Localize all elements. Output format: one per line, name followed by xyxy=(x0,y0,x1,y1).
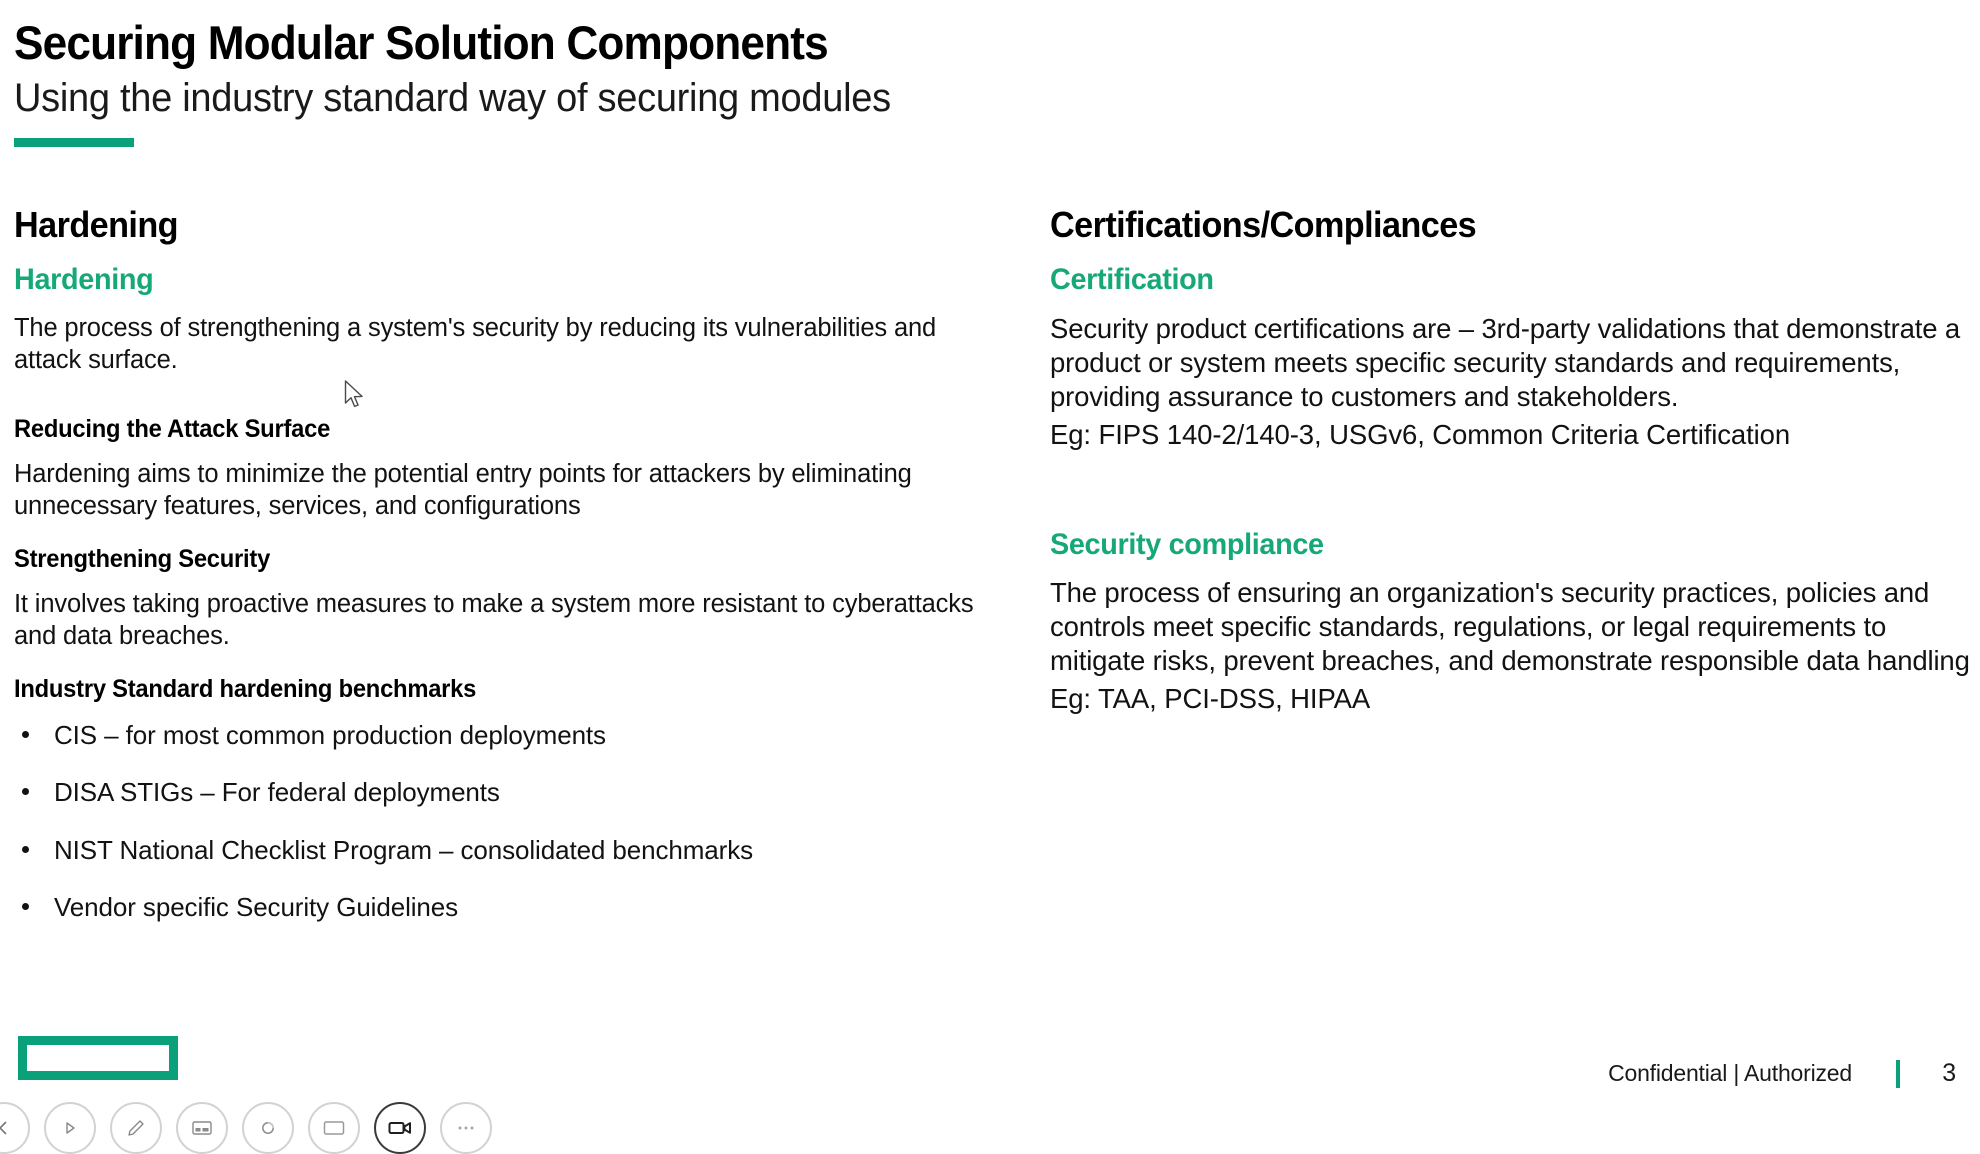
right-column-heading: Certifications/Compliances xyxy=(1050,205,1934,245)
list-item: NIST National Checklist Program – consol… xyxy=(14,835,1004,866)
hpe-logo xyxy=(18,1036,178,1080)
security-compliance-example: Eg: TAA, PCI-DSS, HIPAA xyxy=(1050,682,1980,716)
next-slide-button[interactable] xyxy=(44,1102,96,1154)
certification-text: Security product certifications are – 3r… xyxy=(1050,312,1980,414)
certification-green-heading: Certification xyxy=(1050,263,1943,297)
list-item-label: DISA STIGs – For federal deployments xyxy=(54,777,500,807)
presentation-slide: Securing Modular Solution Components Usi… xyxy=(0,0,1980,1116)
reducing-attack-surface-heading: Reducing the Attack Surface xyxy=(14,414,955,444)
play-arrow-icon xyxy=(62,1120,78,1136)
security-compliance-text: The process of ensuring an organization'… xyxy=(1050,576,1980,678)
page-title: Securing Modular Solution Components xyxy=(14,18,1800,69)
benchmarks-heading: Industry Standard hardening benchmarks xyxy=(14,674,955,704)
camera-button[interactable] xyxy=(374,1102,426,1154)
list-item-label: CIS – for most common production deploym… xyxy=(54,720,606,750)
camera-icon xyxy=(388,1120,412,1136)
slide-header: Securing Modular Solution Components Usi… xyxy=(14,18,1914,147)
bullet-dot-icon xyxy=(22,903,29,910)
security-compliance-green-heading: Security compliance xyxy=(1050,528,1943,562)
confidentiality-label: Confidential | Authorized xyxy=(1608,1060,1852,1087)
page-subtitle: Using the industry standard way of secur… xyxy=(14,75,1819,122)
list-item-label: NIST National Checklist Program – consol… xyxy=(54,835,753,865)
list-item: DISA STIGs – For federal deployments xyxy=(14,777,1004,808)
left-column-heading: Hardening xyxy=(14,205,955,245)
subtitles-button[interactable] xyxy=(176,1102,228,1154)
more-options-button[interactable] xyxy=(440,1102,492,1154)
pen-icon xyxy=(127,1119,145,1137)
footer-divider xyxy=(1896,1060,1900,1088)
slide-view-button[interactable] xyxy=(308,1102,360,1154)
chevron-left-icon xyxy=(0,1120,12,1136)
laser-pointer-icon xyxy=(259,1119,277,1137)
accent-bar xyxy=(14,138,134,147)
page-number: 3 xyxy=(1936,1059,1956,1088)
bullet-dot-icon xyxy=(22,788,29,795)
certification-example: Eg: FIPS 140-2/140-3, USGv6, Common Crit… xyxy=(1050,418,1980,452)
slide-footer: Confidential | Authorized 3 xyxy=(1608,1059,1956,1088)
hardening-intro-text: The process of strengthening a system's … xyxy=(14,312,1004,376)
laser-pointer-button[interactable] xyxy=(242,1102,294,1154)
reducing-attack-surface-text: Hardening aims to minimize the potential… xyxy=(14,458,1004,522)
bullet-dot-icon xyxy=(22,846,29,853)
right-column: Certifications/Compliances Certification… xyxy=(1050,205,1980,716)
list-item-label: Vendor specific Security Guidelines xyxy=(54,892,458,922)
strengthening-security-text: It involves taking proactive measures to… xyxy=(14,588,1004,652)
left-column: Hardening Hardening The process of stren… xyxy=(14,205,1004,949)
subtitles-icon xyxy=(192,1120,212,1136)
list-item: CIS – for most common production deploym… xyxy=(14,720,1004,751)
presenter-toolbar[interactable] xyxy=(0,1102,492,1154)
hardening-green-heading: Hardening xyxy=(14,263,964,297)
benchmarks-list: CIS – for most common production deploym… xyxy=(14,720,1004,923)
previous-slide-button[interactable] xyxy=(0,1102,30,1154)
pen-tool-button[interactable] xyxy=(110,1102,162,1154)
rectangle-icon xyxy=(323,1120,345,1136)
ellipsis-icon xyxy=(457,1125,475,1131)
strengthening-security-heading: Strengthening Security xyxy=(14,544,955,574)
list-item: Vendor specific Security Guidelines xyxy=(14,892,1004,923)
bullet-dot-icon xyxy=(22,731,29,738)
